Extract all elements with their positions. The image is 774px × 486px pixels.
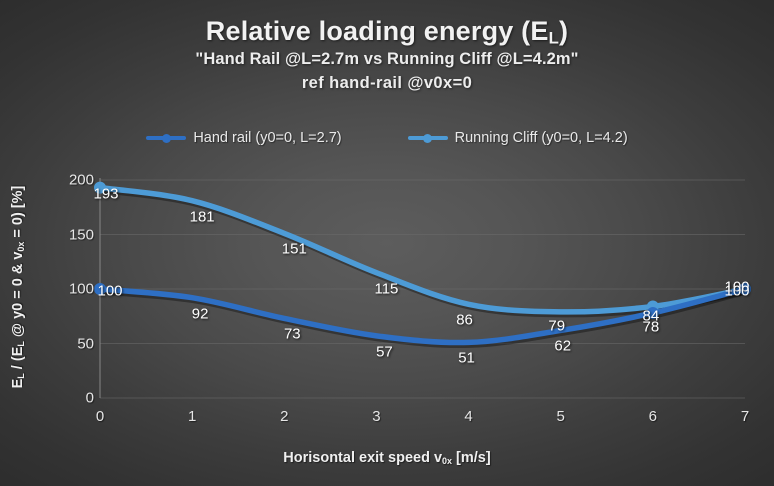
x-axis-title-tail: [m/s] <box>452 450 491 466</box>
chart-container: Relative loading energy (EL) "Hand Rail … <box>0 0 774 486</box>
x-axis-tick-label: 5 <box>557 408 565 425</box>
y-axis-title: EL / (EL @ y0 = 0 & v0x = 0) [%] <box>10 172 32 402</box>
y-axis-tick-label: 100 <box>52 281 94 298</box>
x-axis-tick-label: 6 <box>649 408 657 425</box>
y-axis-title-p4: = 0) [%] <box>10 186 26 242</box>
series-marker[interactable] <box>740 284 751 295</box>
x-axis-title: Horisontal exit speed v0x [m/s] <box>0 450 774 466</box>
series-marker[interactable] <box>95 182 106 193</box>
x-axis-title-main: Horisontal exit speed v <box>283 450 442 466</box>
series-marker[interactable] <box>95 284 106 295</box>
x-axis-tick-label: 7 <box>741 408 749 425</box>
x-axis-tick-label: 4 <box>464 408 472 425</box>
y-axis-tick-label: 0 <box>52 390 94 407</box>
y-axis-tick-label: 150 <box>52 226 94 243</box>
y-axis-title-s3: 0x <box>16 242 26 252</box>
series-marker[interactable] <box>647 307 658 318</box>
x-axis-tick-label: 2 <box>280 408 288 425</box>
series-line-shadow <box>102 190 747 314</box>
x-axis-tick-label: 0 <box>96 408 104 425</box>
y-axis-tick-label: 200 <box>52 172 94 189</box>
y-axis-title-p3: @ y0 = 0 & v <box>10 252 26 342</box>
plot-area <box>0 0 774 486</box>
x-axis-tick-label: 3 <box>372 408 380 425</box>
y-axis-title-p1: E <box>10 379 26 389</box>
x-axis-title-subscript: 0x <box>442 456 452 466</box>
x-axis-tick-label: 1 <box>188 408 196 425</box>
y-axis-title-s1: L <box>16 373 26 379</box>
y-axis-title-s2: L <box>16 341 26 347</box>
y-axis-title-p2: / (E <box>10 347 26 374</box>
y-axis-tick-label: 50 <box>52 335 94 352</box>
plot-svg <box>0 0 774 486</box>
